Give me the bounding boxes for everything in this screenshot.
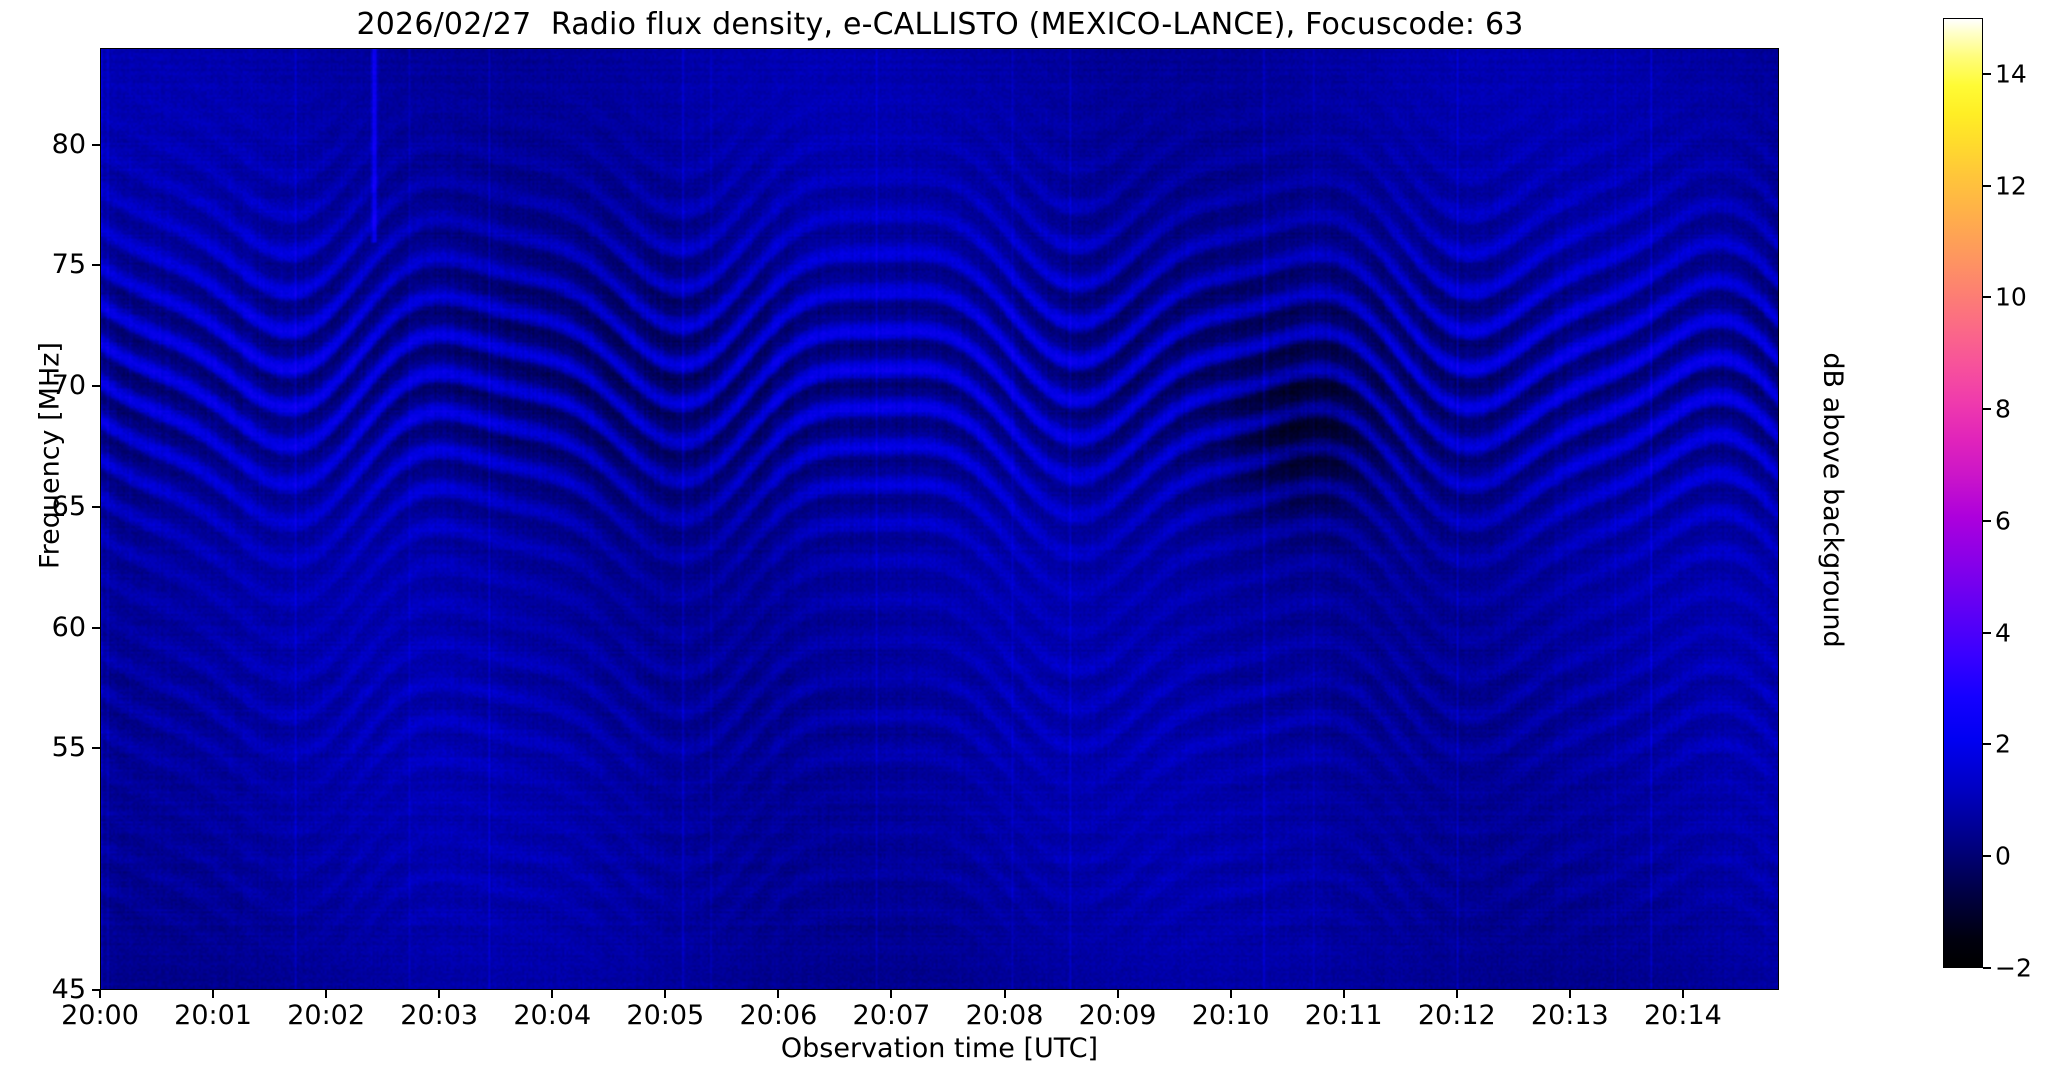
y-tick-label: 60: [6, 614, 86, 641]
y-tick-mark: [92, 385, 100, 387]
colorbar-tick-mark: [1983, 967, 1991, 969]
colorbar-tick-label: 10: [1995, 285, 2027, 310]
x-tick-mark: [1682, 990, 1684, 998]
colorbar-tick-mark: [1983, 408, 1991, 410]
x-tick-mark: [325, 990, 327, 998]
spectrogram-plot-area[interactable]: [100, 48, 1779, 990]
colorbar-tick-mark: [1983, 743, 1991, 745]
y-tick-label: 55: [6, 734, 86, 761]
x-tick-mark: [551, 990, 553, 998]
colorbar-tick-label: 12: [1995, 173, 2027, 198]
y-tick-label: 65: [6, 493, 86, 520]
colorbar-tick-mark: [1983, 296, 1991, 298]
y-tick-mark: [92, 747, 100, 749]
y-tick-label: 45: [6, 976, 86, 1003]
colorbar-tick-label: 2: [1995, 732, 2011, 757]
figure-canvas: 2026/02/27 Radio flux density, e-CALLIST…: [0, 0, 2047, 1067]
x-tick-mark: [664, 990, 666, 998]
x-tick-mark: [1569, 990, 1571, 998]
y-tick-mark: [92, 506, 100, 508]
colorbar-tick-mark: [1983, 520, 1991, 522]
colorbar-tick-label: 8: [1995, 397, 2011, 422]
colorbar-tick-label: 6: [1995, 508, 2011, 533]
colorbar-tick-label: −2: [1995, 956, 2032, 981]
colorbar-gradient: [1943, 18, 1983, 968]
y-tick-mark: [92, 144, 100, 146]
x-tick-mark: [212, 990, 214, 998]
x-tick-mark: [1456, 990, 1458, 998]
x-tick-mark: [890, 990, 892, 998]
colorbar-tick-mark: [1983, 185, 1991, 187]
colorbar-label: dB above background: [1817, 220, 1848, 780]
x-tick-label: 20:14: [1613, 1001, 1753, 1031]
x-tick-mark: [99, 990, 101, 998]
y-tick-mark: [92, 627, 100, 629]
colorbar-tick-label: 4: [1995, 620, 2011, 645]
colorbar-tick-mark: [1983, 73, 1991, 75]
x-axis-label: Observation time [UTC]: [100, 1033, 1779, 1064]
y-tick-label: 75: [6, 251, 86, 278]
colorbar-tick-label: 14: [1995, 61, 2027, 86]
page-title: 2026/02/27 Radio flux density, e-CALLIST…: [100, 6, 1780, 44]
spectrogram-image: [101, 49, 1778, 989]
x-tick-mark: [1230, 990, 1232, 998]
x-tick-mark: [1004, 990, 1006, 998]
x-tick-mark: [1343, 990, 1345, 998]
x-tick-mark: [1117, 990, 1119, 998]
y-tick-label: 70: [6, 372, 86, 399]
colorbar-tick-mark: [1983, 632, 1991, 634]
colorbar[interactable]: 14121086420−2: [1943, 18, 1983, 968]
y-tick-mark: [92, 264, 100, 266]
colorbar-tick-mark: [1983, 855, 1991, 857]
x-tick-mark: [777, 990, 779, 998]
x-tick-mark: [438, 990, 440, 998]
y-tick-label: 80: [6, 131, 86, 158]
colorbar-tick-label: 0: [1995, 844, 2011, 869]
